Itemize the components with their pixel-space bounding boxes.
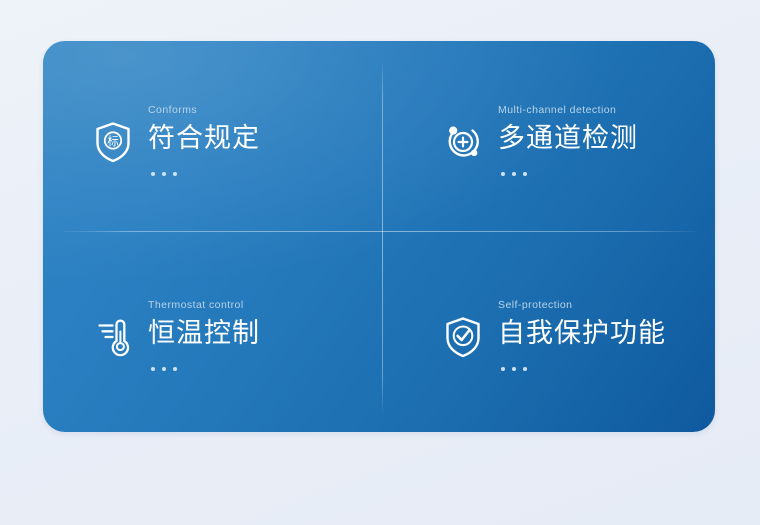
dot (523, 367, 527, 371)
thermometer-icon (90, 314, 136, 360)
multi-channel-detection-icon (440, 119, 486, 165)
feature-text-block: Conforms 符合规定 (148, 103, 260, 176)
feature-subtitle: Self-protection (498, 298, 666, 312)
feature-subtitle: Conforms (148, 103, 260, 117)
shield-check-icon (440, 314, 486, 360)
feature-item-multi-channel-detection[interactable]: Multi-channel detection 多通道检测 (382, 41, 715, 231)
dot (151, 367, 155, 371)
feature-title: 恒温控制 (148, 316, 260, 350)
feature-text-block: Multi-channel detection 多通道检测 (498, 103, 638, 176)
feature-title: 多通道检测 (498, 121, 638, 155)
feature-subtitle: Thermostat control (148, 298, 260, 312)
feature-item-thermostat-control[interactable]: Thermostat control 恒温控制 (43, 231, 382, 432)
page-canvas: 标 Conforms 符合规定 (0, 0, 760, 525)
feature-dots (151, 172, 260, 176)
feature-title: 符合规定 (148, 121, 260, 155)
dot (512, 367, 516, 371)
dot (501, 367, 505, 371)
shield-label-icon: 标 (90, 119, 136, 165)
feature-text-block: Thermostat control 恒温控制 (148, 298, 260, 371)
feature-item-conforms[interactable]: 标 Conforms 符合规定 (43, 41, 382, 231)
feature-item-self-protection[interactable]: Self-protection 自我保护功能 (382, 231, 715, 432)
dot (162, 367, 166, 371)
dot (512, 172, 516, 176)
dot (151, 172, 155, 176)
feature-dots (501, 367, 666, 371)
feature-title: 自我保护功能 (498, 316, 666, 350)
dot (173, 172, 177, 176)
dot (501, 172, 505, 176)
svg-text:标: 标 (107, 134, 119, 148)
feature-dots (151, 367, 260, 371)
dot (523, 172, 527, 176)
feature-subtitle: Multi-channel detection (498, 103, 638, 117)
dot (162, 172, 166, 176)
feature-text-block: Self-protection 自我保护功能 (498, 298, 666, 371)
feature-card: 标 Conforms 符合规定 (43, 41, 715, 432)
dot (173, 367, 177, 371)
feature-grid: 标 Conforms 符合规定 (43, 41, 715, 432)
feature-dots (501, 172, 638, 176)
